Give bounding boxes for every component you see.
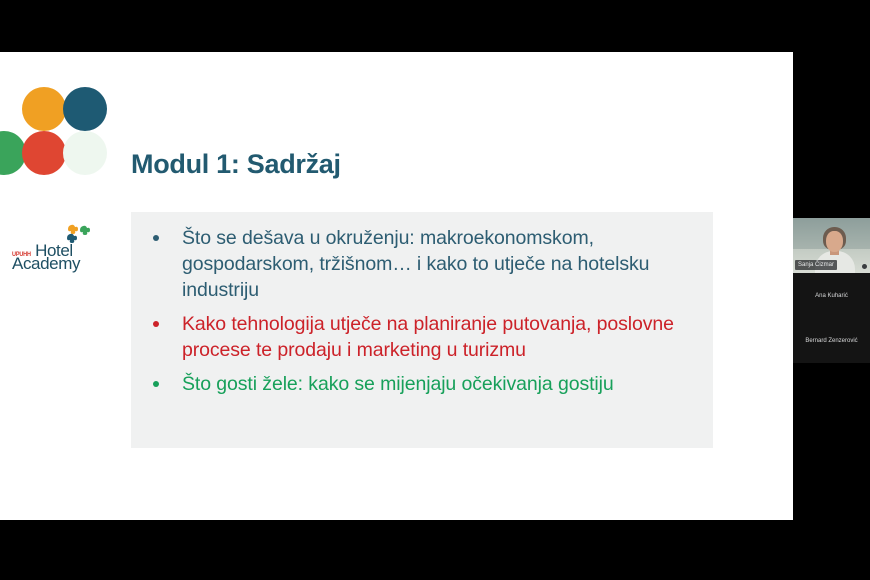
page-title: Modul 1: Sadržaj: [131, 149, 341, 180]
meeting-stage: UPUHH Hotel Academy Modul 1: Sadržaj Što…: [0, 0, 870, 580]
webcam-person-face: [826, 231, 843, 252]
bullet-text: Kako tehnologija utječe na planiranje pu…: [182, 313, 674, 361]
brand-academy-label: Academy: [12, 255, 80, 272]
bullet-marker-icon: [153, 381, 159, 387]
brand-dot-faint: [63, 131, 107, 175]
participant-name-label: Ana Kuharić: [815, 292, 848, 300]
hotel-academy-logo: UPUHH Hotel Academy: [12, 224, 108, 272]
bullet-marker-icon: [153, 321, 159, 327]
brand-dot-teal: [63, 87, 107, 131]
bullet-list: Što se dešava u okruženju: makroekonomsk…: [131, 212, 713, 397]
bullet-marker-icon: [153, 235, 159, 241]
participant-filmstrip[interactable]: Sanja Čizmar Ana Kuharić Bernard Zenzero…: [793, 218, 870, 363]
list-item: Što se dešava u okruženju: makroekonomsk…: [140, 225, 699, 303]
microphone-icon: [862, 264, 867, 269]
participant-name-label: Sanja Čizmar: [795, 260, 837, 270]
brand-dots-logo: [0, 85, 100, 175]
list-item: Što gosti žele: kako se mijenjaju očekiv…: [140, 371, 699, 397]
bullet-text: Što se dešava u okruženju: makroekonomsk…: [182, 227, 649, 301]
brand-dot-orange: [22, 87, 66, 131]
participant-tile-bernard[interactable]: Bernard Zenzerović: [793, 318, 870, 363]
participant-tile-ana[interactable]: Ana Kuharić: [793, 273, 870, 318]
shared-slide: UPUHH Hotel Academy Modul 1: Sadržaj Što…: [0, 52, 793, 520]
participant-tile-video[interactable]: Sanja Čizmar: [793, 218, 870, 273]
slide-content-panel: Što se dešava u okruženju: makroekonomsk…: [131, 212, 713, 448]
brand-dot-red: [22, 131, 66, 175]
participant-name-label: Bernard Zenzerović: [805, 337, 857, 345]
bullet-text: Što gosti žele: kako se mijenjaju očekiv…: [182, 373, 614, 395]
list-item: Kako tehnologija utječe na planiranje pu…: [140, 311, 699, 363]
